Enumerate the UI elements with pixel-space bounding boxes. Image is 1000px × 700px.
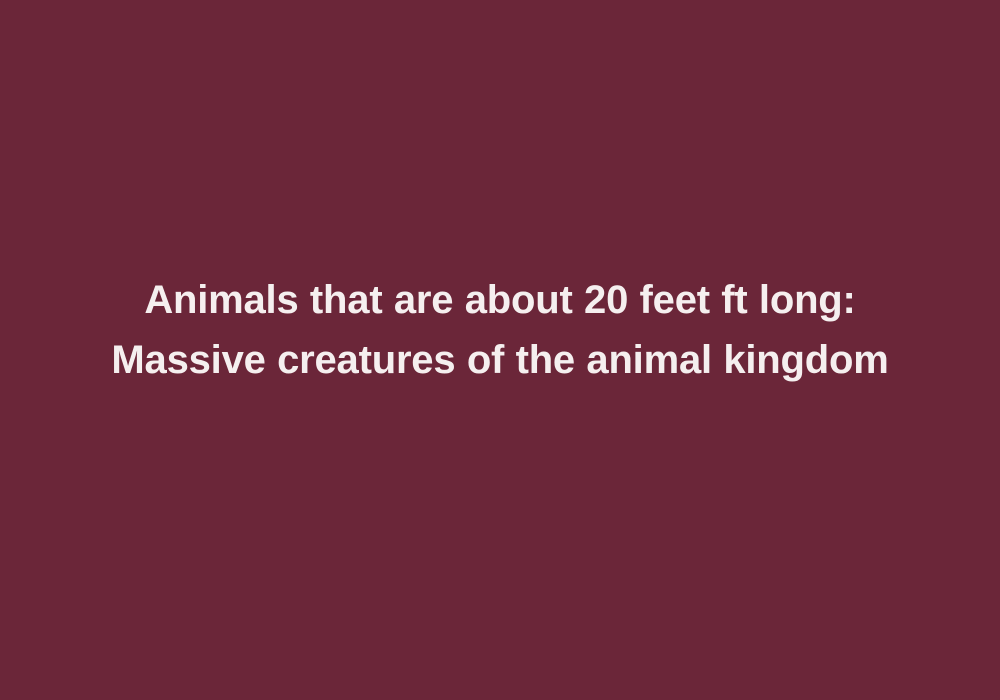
title-card: Animals that are about 20 feet ft long: … <box>0 0 1000 700</box>
page-title: Animals that are about 20 feet ft long: … <box>60 270 940 390</box>
page-title-line-1: Animals that are about 20 feet ft long: <box>60 270 940 330</box>
page-title-line-2: Massive creatures of the animal kingdom <box>60 330 940 390</box>
